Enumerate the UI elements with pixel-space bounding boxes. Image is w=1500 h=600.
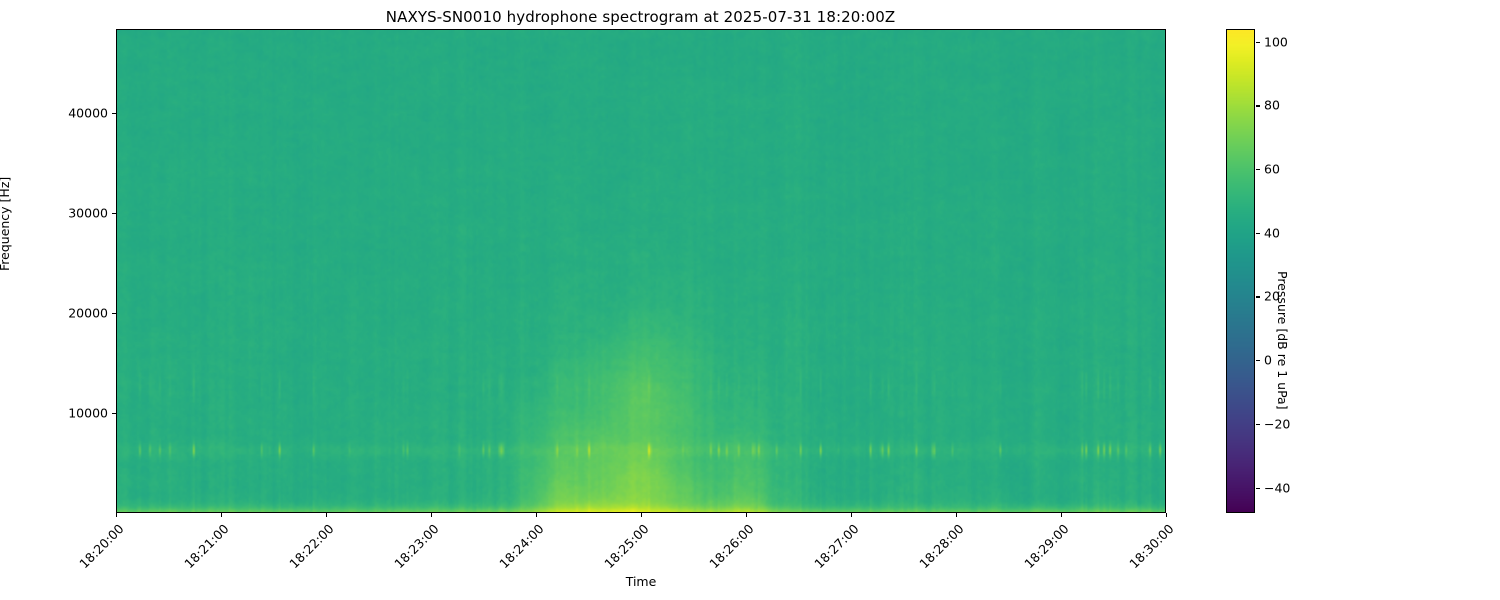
colorbar-tick-label: 0 bbox=[1264, 353, 1272, 368]
colorbar-tick-mark bbox=[1256, 424, 1260, 425]
x-tick-mark bbox=[536, 513, 537, 517]
x-tick-mark bbox=[431, 513, 432, 517]
x-axis-label: Time bbox=[116, 574, 1166, 589]
colorbar-gradient bbox=[1227, 30, 1254, 512]
colorbar-tick-label: −20 bbox=[1264, 416, 1290, 431]
colorbar-tick-label: 60 bbox=[1264, 162, 1280, 177]
x-tick-label: 18:26:00 bbox=[704, 521, 757, 574]
y-tick-label: 40000 bbox=[68, 106, 108, 121]
x-tick-mark bbox=[1166, 513, 1167, 517]
colorbar-tick-label: −40 bbox=[1264, 480, 1290, 495]
x-tick-label: 18:25:00 bbox=[599, 521, 652, 574]
colorbar-label: Pressure [dB re 1 uPa] bbox=[1275, 271, 1290, 410]
colorbar bbox=[1226, 29, 1255, 513]
x-tick-label: 18:23:00 bbox=[389, 521, 442, 574]
colorbar-tick-mark bbox=[1256, 42, 1260, 43]
x-tick-mark bbox=[641, 513, 642, 517]
colorbar-tick-mark bbox=[1256, 296, 1260, 297]
x-tick-label: 18:30:00 bbox=[1124, 521, 1177, 574]
colorbar-tick-mark bbox=[1256, 233, 1260, 234]
spectrogram-figure: NAXYS-SN0010 hydrophone spectrogram at 2… bbox=[0, 0, 1500, 600]
y-tick-mark bbox=[112, 413, 116, 414]
colorbar-tick-label: 100 bbox=[1264, 34, 1288, 49]
colorbar-tick-label: 40 bbox=[1264, 225, 1280, 240]
y-tick-mark bbox=[112, 313, 116, 314]
spectrogram-plot-area bbox=[116, 29, 1166, 513]
x-tick-label: 18:20:00 bbox=[74, 521, 127, 574]
spectrogram-image bbox=[117, 30, 1165, 512]
y-tick-mark bbox=[112, 113, 116, 114]
y-tick-label: 10000 bbox=[68, 406, 108, 421]
colorbar-tick-mark bbox=[1256, 105, 1260, 106]
y-tick-label: 20000 bbox=[68, 306, 108, 321]
x-tick-label: 18:27:00 bbox=[809, 521, 862, 574]
x-tick-mark bbox=[1061, 513, 1062, 517]
x-tick-label: 18:21:00 bbox=[179, 521, 232, 574]
colorbar-tick-label: 80 bbox=[1264, 98, 1280, 113]
y-tick-label: 30000 bbox=[68, 206, 108, 221]
colorbar-tick-mark bbox=[1256, 488, 1260, 489]
x-tick-label: 18:22:00 bbox=[284, 521, 337, 574]
x-tick-label: 18:24:00 bbox=[494, 521, 547, 574]
y-tick-mark bbox=[112, 213, 116, 214]
colorbar-tick-mark bbox=[1256, 360, 1260, 361]
x-tick-mark bbox=[746, 513, 747, 517]
x-tick-mark bbox=[851, 513, 852, 517]
x-tick-label: 18:28:00 bbox=[914, 521, 967, 574]
colorbar-tick-mark bbox=[1256, 169, 1260, 170]
x-tick-mark bbox=[326, 513, 327, 517]
page-title: NAXYS-SN0010 hydrophone spectrogram at 2… bbox=[0, 8, 1281, 26]
x-tick-mark bbox=[956, 513, 957, 517]
y-axis-label: Frequency [Hz] bbox=[0, 177, 12, 271]
x-tick-label: 18:29:00 bbox=[1019, 521, 1072, 574]
x-tick-mark bbox=[221, 513, 222, 517]
x-tick-mark bbox=[116, 513, 117, 517]
